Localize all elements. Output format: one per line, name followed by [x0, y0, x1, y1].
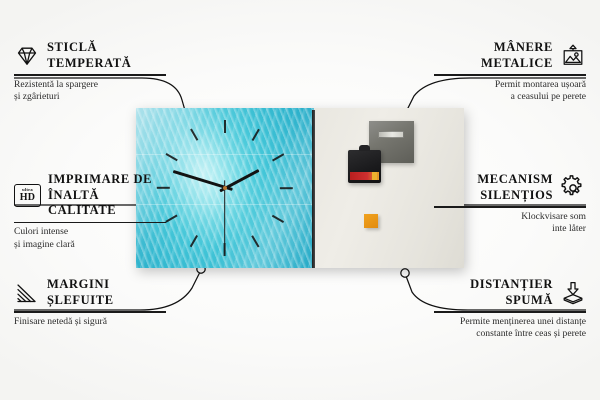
callout-print-head: ultra HD IMPRIMARE DEÎNALTĂ CALITATE	[14, 172, 166, 219]
callout-glass: STICLĂTEMPERATĂ Rezistentă la spargereși…	[14, 40, 166, 104]
callout-edges-rule	[14, 311, 166, 312]
callout-edges-head: MARGINIȘLEFUITE	[14, 277, 166, 308]
callout-print-rule	[14, 222, 166, 223]
callout-glass-subtitle: Rezistentă la spargereși zgârieturi	[14, 79, 166, 104]
quartz-movement	[348, 150, 381, 183]
movement-lug	[359, 145, 370, 151]
gear-icon	[560, 175, 586, 201]
callout-mechanism-head: MECANISMSILENȚIOS	[434, 172, 586, 203]
polished-edge-icon	[14, 280, 40, 306]
callout-edges-title: MARGINIȘLEFUITE	[47, 277, 114, 308]
badge-hd-text: HD	[20, 193, 36, 203]
movement-label-band	[350, 172, 379, 180]
callout-mechanism-rule	[434, 206, 586, 207]
callout-print-subtitle: Culori intenseși imagine clară	[14, 226, 166, 251]
wire-endpoint-spacer	[401, 269, 409, 277]
ultra-hd-badge-icon: ultra HD	[14, 184, 41, 207]
picture-hanger-icon	[560, 43, 586, 69]
callout-spacer-subtitle: Permite menținerea unei distanțeconstant…	[434, 316, 586, 341]
hour-tick	[224, 120, 226, 188]
callout-handles: MÂNEREMETALICE Permit montarea ușoarăa c…	[434, 40, 586, 104]
product-image	[136, 108, 464, 268]
callout-edges-subtitle: Finisare netedă și sigură	[14, 316, 166, 329]
callout-glass-rule	[14, 74, 166, 75]
callout-handles-rule	[434, 74, 586, 75]
callout-mechanism: MECANISMSILENȚIOS Klockvisare sominte lå…	[434, 172, 586, 236]
foam-spacer	[364, 214, 378, 228]
hand-center-cap	[223, 186, 227, 190]
hanger-slot	[378, 131, 404, 138]
foam-spacer-arrow-icon	[560, 280, 586, 306]
callout-glass-title: STICLĂTEMPERATĂ	[47, 40, 131, 71]
callout-spacer-rule	[434, 311, 586, 312]
hour-tick	[157, 187, 225, 189]
callout-print-title: IMPRIMARE DEÎNALTĂ CALITATE	[48, 172, 166, 219]
hour-tick	[225, 187, 293, 189]
infographic-canvas: STICLĂTEMPERATĂ Rezistentă la spargereși…	[0, 0, 600, 400]
diamond-icon	[14, 43, 40, 69]
callout-mechanism-subtitle: Klockvisare sominte låter	[434, 211, 586, 236]
clock-side-edge	[312, 110, 315, 268]
callout-handles-subtitle: Permit montarea ușoarăa ceasului pe pere…	[434, 79, 586, 104]
callout-spacer-title: DISTANȚIERSPUMĂ	[470, 277, 553, 308]
callout-glass-head: STICLĂTEMPERATĂ	[14, 40, 166, 71]
callout-edges: MARGINIȘLEFUITE Finisare netedă și sigur…	[14, 277, 166, 328]
callout-handles-head: MÂNEREMETALICE	[434, 40, 586, 71]
callout-spacer-head: DISTANȚIERSPUMĂ	[434, 277, 586, 308]
callout-spacer: DISTANȚIERSPUMĂ Permite menținerea unei …	[434, 277, 586, 341]
callout-print: ultra HD IMPRIMARE DEÎNALTĂ CALITATE Cul…	[14, 172, 166, 252]
callout-handles-title: MÂNEREMETALICE	[481, 40, 553, 71]
callout-mechanism-title: MECANISMSILENȚIOS	[477, 172, 553, 203]
